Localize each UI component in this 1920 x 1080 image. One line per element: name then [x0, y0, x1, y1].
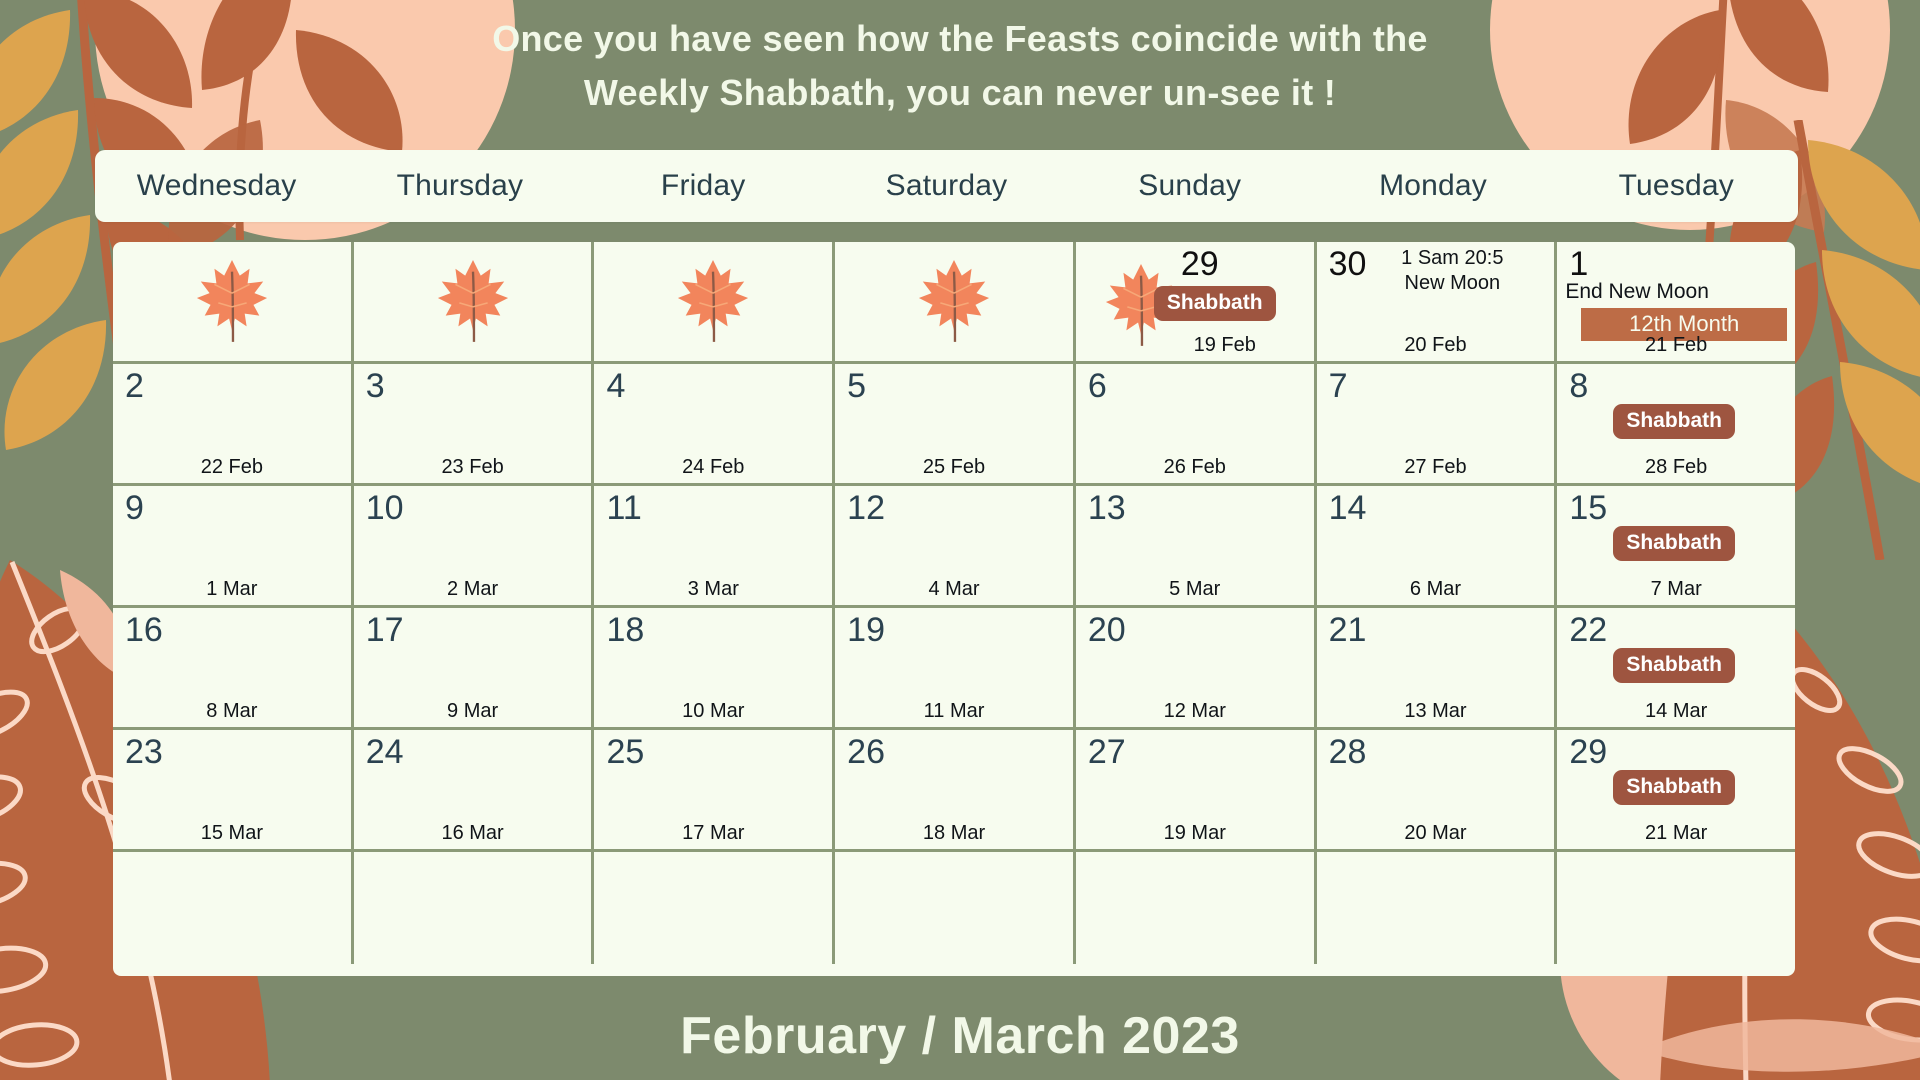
day-number: 6: [1088, 366, 1107, 406]
calendar-period-title: February / March 2023: [0, 1006, 1920, 1066]
gregorian-date: 10 Mar: [594, 700, 832, 723]
day-number: 8: [1569, 366, 1588, 406]
calendar-poster: Once you have seen how the Feasts coinci…: [0, 0, 1920, 1080]
calendar-day-cell[interactable]: 2719 Mar: [1076, 730, 1317, 849]
calendar-decor-cell: [594, 242, 835, 361]
day-note: 1 Sam 20:5New Moon: [1362, 246, 1542, 296]
calendar-day-cell[interactable]: 2820 Mar: [1317, 730, 1558, 849]
calendar-day-cell[interactable]: 626 Feb: [1076, 364, 1317, 483]
gregorian-date: 5 Mar: [1076, 578, 1314, 601]
weekday-header-thursday: Thursday: [338, 169, 581, 203]
end-new-moon-label: End New Moon: [1565, 280, 1709, 304]
calendar-day-cell[interactable]: 424 Feb: [594, 364, 835, 483]
day-note-line-2: New Moon: [1405, 272, 1501, 294]
calendar-day-cell[interactable]: 22Shabbath14 Mar: [1557, 608, 1795, 727]
calendar-day-cell[interactable]: 2315 Mar: [113, 730, 354, 849]
calendar-day-cell[interactable]: 222 Feb: [113, 364, 354, 483]
gregorian-date: 19 Mar: [1076, 822, 1314, 845]
day-number: 7: [1329, 366, 1348, 406]
weekday-header-sunday: Sunday: [1068, 169, 1311, 203]
headline-line-2: Weekly Shabbath, you can never un-see it…: [0, 66, 1920, 120]
page-headline: Once you have seen how the Feasts coinci…: [0, 12, 1920, 120]
day-number: 25: [606, 732, 644, 772]
calendar-day-cell[interactable]: 301 Sam 20:5New Moon20 Feb: [1317, 242, 1558, 361]
gregorian-date: 12 Mar: [1076, 700, 1314, 723]
gregorian-date: 27 Feb: [1317, 456, 1555, 479]
gregorian-date: 21 Feb: [1557, 334, 1795, 357]
calendar-empty-cell: [835, 852, 1076, 964]
gregorian-date: 13 Mar: [1317, 700, 1555, 723]
gregorian-date: 20 Feb: [1317, 334, 1555, 357]
day-number: 16: [125, 610, 163, 650]
calendar-day-cell[interactable]: 2618 Mar: [835, 730, 1076, 849]
maple-leaf-icon: [674, 254, 752, 346]
gregorian-date: 6 Mar: [1317, 578, 1555, 601]
day-number: 10: [366, 488, 404, 528]
maple-leaf-icon: [434, 254, 512, 346]
calendar-week-row-empty: [113, 852, 1795, 964]
calendar-empty-cell: [1076, 852, 1317, 964]
day-number: 13: [1088, 488, 1126, 528]
day-number: 26: [847, 732, 885, 772]
weekday-header-tuesday: Tuesday: [1555, 169, 1798, 203]
calendar-day-cell[interactable]: 2416 Mar: [354, 730, 595, 849]
status-badge: Shabbath: [1613, 404, 1735, 439]
gregorian-date: 8 Mar: [113, 700, 351, 723]
gregorian-date: 9 Mar: [354, 700, 592, 723]
calendar-day-cell[interactable]: 2012 Mar: [1076, 608, 1317, 727]
day-number: 21: [1329, 610, 1367, 650]
day-number: 27: [1088, 732, 1126, 772]
gregorian-date: 25 Feb: [835, 456, 1073, 479]
calendar-day-cell[interactable]: 29Shabbath21 Mar: [1557, 730, 1795, 849]
calendar-week-row: 29Shabbath19 Feb301 Sam 20:5New Moon20 F…: [113, 242, 1795, 364]
weekday-header-saturday: Saturday: [825, 169, 1068, 203]
day-number: 5: [847, 366, 866, 406]
day-number: 19: [847, 610, 885, 650]
day-number: 18: [606, 610, 644, 650]
day-number: 29: [1569, 732, 1607, 772]
maple-leaf-icon: [193, 254, 271, 346]
calendar-day-cell[interactable]: 8Shabbath28 Feb: [1557, 364, 1795, 483]
gregorian-date: 14 Mar: [1557, 700, 1795, 723]
calendar-empty-cell: [1557, 852, 1795, 964]
maple-leaf-icon: [915, 254, 993, 346]
gregorian-date: 20 Mar: [1317, 822, 1555, 845]
weekday-header-monday: Monday: [1311, 169, 1554, 203]
gregorian-date: 11 Mar: [835, 700, 1073, 723]
calendar-day-cell[interactable]: 1911 Mar: [835, 608, 1076, 727]
day-number: 12: [847, 488, 885, 528]
calendar-day-cell[interactable]: 179 Mar: [354, 608, 595, 727]
calendar-decor-cell: [354, 242, 595, 361]
day-number: 29: [1181, 244, 1219, 284]
gregorian-date: 18 Mar: [835, 822, 1073, 845]
calendar-week-row: 2315 Mar2416 Mar2517 Mar2618 Mar2719 Mar…: [113, 730, 1795, 852]
day-number: 20: [1088, 610, 1126, 650]
status-badge: Shabbath: [1613, 770, 1735, 805]
day-number: 14: [1329, 488, 1367, 528]
calendar-day-cell[interactable]: 29Shabbath19 Feb: [1076, 242, 1317, 361]
gregorian-date: 19 Feb: [1076, 334, 1314, 357]
status-badge: Shabbath: [1613, 526, 1735, 561]
gregorian-date: 1 Mar: [113, 578, 351, 601]
gregorian-date: 7 Mar: [1557, 578, 1795, 601]
day-number: 4: [606, 366, 625, 406]
calendar-decor-cell: [835, 242, 1076, 361]
gregorian-date: 15 Mar: [113, 822, 351, 845]
day-number: 30: [1329, 244, 1367, 284]
gregorian-date: 4 Mar: [835, 578, 1073, 601]
gregorian-date: 3 Mar: [594, 578, 832, 601]
calendar-day-cell[interactable]: 102 Mar: [354, 486, 595, 605]
calendar-week-row: 91 Mar102 Mar113 Mar124 Mar135 Mar146 Ma…: [113, 486, 1795, 608]
day-number: 23: [125, 732, 163, 772]
day-number: 24: [366, 732, 404, 772]
day-number: 1: [1569, 244, 1588, 284]
calendar-day-cell[interactable]: 146 Mar: [1317, 486, 1558, 605]
weekday-header-bar: WednesdayThursdayFridaySaturdaySundayMon…: [95, 150, 1798, 222]
calendar-day-cell[interactable]: 1810 Mar: [594, 608, 835, 727]
gregorian-date: 22 Feb: [113, 456, 351, 479]
headline-line-1: Once you have seen how the Feasts coinci…: [0, 12, 1920, 66]
calendar-day-cell[interactable]: 135 Mar: [1076, 486, 1317, 605]
weekday-header-wednesday: Wednesday: [95, 169, 338, 203]
calendar-day-cell[interactable]: 525 Feb: [835, 364, 1076, 483]
calendar-day-cell[interactable]: 113 Mar: [594, 486, 835, 605]
calendar-day-cell[interactable]: 727 Feb: [1317, 364, 1558, 483]
calendar-day-cell[interactable]: 323 Feb: [354, 364, 595, 483]
weekday-header-friday: Friday: [582, 169, 825, 203]
calendar-empty-cell: [1317, 852, 1558, 964]
gregorian-date: 17 Mar: [594, 822, 832, 845]
calendar-empty-cell: [354, 852, 595, 964]
status-badge: Shabbath: [1154, 286, 1276, 321]
gregorian-date: 24 Feb: [594, 456, 832, 479]
calendar-empty-cell: [594, 852, 835, 964]
day-number: 17: [366, 610, 404, 650]
day-number: 2: [125, 366, 144, 406]
gregorian-date: 23 Feb: [354, 456, 592, 479]
day-number: 28: [1329, 732, 1367, 772]
gregorian-date: 28 Feb: [1557, 456, 1795, 479]
calendar-week-row: 168 Mar179 Mar1810 Mar1911 Mar2012 Mar21…: [113, 608, 1795, 730]
calendar-day-cell[interactable]: 124 Mar: [835, 486, 1076, 605]
day-number: 9: [125, 488, 144, 528]
day-note-line-1: 1 Sam 20:5: [1401, 247, 1503, 269]
gregorian-date: 26 Feb: [1076, 456, 1314, 479]
calendar-day-cell[interactable]: 168 Mar: [113, 608, 354, 727]
gregorian-date: 21 Mar: [1557, 822, 1795, 845]
crescent-moon-icon: [1745, 254, 1783, 292]
calendar-day-cell[interactable]: 15Shabbath7 Mar: [1557, 486, 1795, 605]
calendar-week-row: 222 Feb323 Feb424 Feb525 Feb626 Feb727 F…: [113, 364, 1795, 486]
calendar-empty-cell: [113, 852, 354, 964]
day-number: 22: [1569, 610, 1607, 650]
day-number: 3: [366, 366, 385, 406]
calendar-grid: 29Shabbath19 Feb301 Sam 20:5New Moon20 F…: [113, 242, 1795, 976]
gregorian-date: 16 Mar: [354, 822, 592, 845]
gregorian-date: 2 Mar: [354, 578, 592, 601]
calendar-day-cell[interactable]: 2517 Mar: [594, 730, 835, 849]
calendar-decor-cell: [113, 242, 354, 361]
status-badge: Shabbath: [1613, 648, 1735, 683]
calendar-day-cell[interactable]: 2113 Mar: [1317, 608, 1558, 727]
day-number: 11: [606, 488, 641, 528]
calendar-day-cell[interactable]: 1End New Moon12th Month21 Feb: [1557, 242, 1795, 361]
day-number: 15: [1569, 488, 1607, 528]
calendar-day-cell[interactable]: 91 Mar: [113, 486, 354, 605]
